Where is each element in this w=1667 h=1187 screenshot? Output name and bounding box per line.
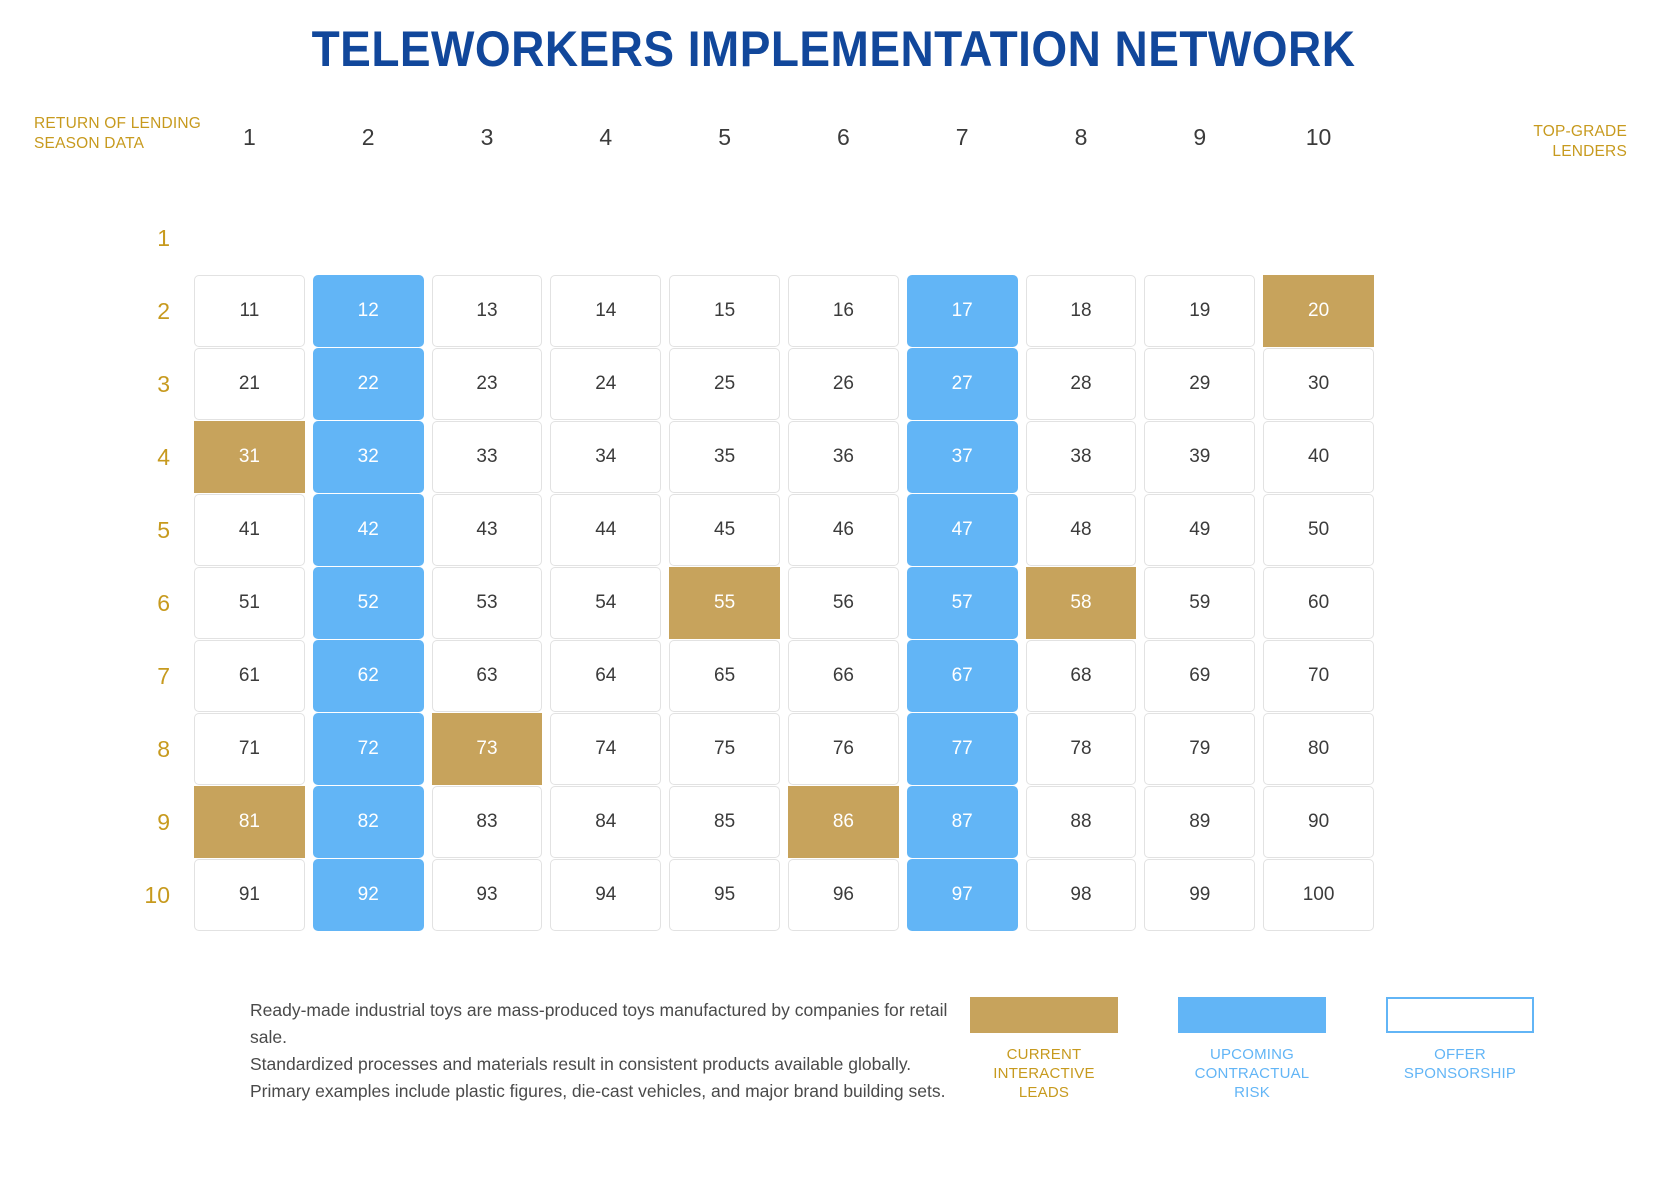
heatmap-cell-plain[interactable]: 89 <box>1144 786 1255 858</box>
heatmap-cell-plain[interactable]: 39 <box>1144 421 1255 493</box>
legend-item: CURRENTINTERACTIVE LEADS <box>970 997 1118 1102</box>
heatmap-row: 981828384858687888990 <box>190 786 1378 858</box>
heatmap-cell-plain[interactable]: 15 <box>669 275 780 347</box>
legend-label-line1: UPCOMING <box>1178 1045 1326 1064</box>
legend-swatch-outline <box>1386 997 1534 1033</box>
heatmap-cell-plain[interactable]: 59 <box>1144 567 1255 639</box>
legend-swatch-blue <box>1178 997 1326 1033</box>
heatmap-cell-plain[interactable]: 88 <box>1026 786 1137 858</box>
heatmap-cell-plain[interactable]: 61 <box>194 640 305 712</box>
heatmap-cell-plain[interactable]: 84 <box>550 786 661 858</box>
heatmap-cell-blue[interactable]: 62 <box>313 640 424 712</box>
heatmap-cell-blue[interactable]: 12 <box>313 275 424 347</box>
heatmap-cell-plain[interactable]: 53 <box>432 567 543 639</box>
row-header: 5 <box>130 494 170 566</box>
heatmap-row: 871727374757677787980 <box>190 713 1378 785</box>
column-header: 3 <box>428 124 547 151</box>
row-header: 7 <box>130 640 170 712</box>
heatmap-cell-plain[interactable]: 80 <box>1263 713 1374 785</box>
heatmap-cell-plain[interactable]: 66 <box>788 640 899 712</box>
column-header: 10 <box>1259 124 1378 151</box>
heatmap-cell-plain[interactable]: 100 <box>1263 859 1374 931</box>
heatmap-cell-blue[interactable]: 82 <box>313 786 424 858</box>
heatmap-cell-plain[interactable]: 19 <box>1144 275 1255 347</box>
heatmap-cell-plain[interactable]: 36 <box>788 421 899 493</box>
heatmap-cell-plain[interactable]: 25 <box>669 348 780 420</box>
heatmap-cell-plain[interactable]: 96 <box>788 859 899 931</box>
column-header: 1 <box>190 124 309 151</box>
description-line-1: Ready-made industrial toys are mass-prod… <box>250 997 950 1051</box>
heatmap-cell-blue[interactable]: 22 <box>313 348 424 420</box>
heatmap-cell-plain[interactable]: 44 <box>550 494 661 566</box>
heatmap-cell-blue[interactable]: 27 <box>907 348 1018 420</box>
heatmap-cell-blue[interactable]: 52 <box>313 567 424 639</box>
axis-label-columns: TOP-GRADE LENDERS <box>1437 122 1627 162</box>
heatmap-cell-gold[interactable]: 20 <box>1263 275 1374 347</box>
heatmap-cell-gold[interactable]: 31 <box>194 421 305 493</box>
row-header: 4 <box>130 421 170 493</box>
heatmap-row: 761626364656667686970 <box>190 640 1378 712</box>
heatmap-cell-plain[interactable]: 21 <box>194 348 305 420</box>
heatmap-cell-plain[interactable]: 83 <box>432 786 543 858</box>
legend-label: CURRENTINTERACTIVE LEADS <box>970 1045 1118 1102</box>
column-header: 5 <box>665 124 784 151</box>
heatmap-cell-blue[interactable]: 77 <box>907 713 1018 785</box>
axis-label-rows-line1: RETURN OF LENDING <box>34 114 214 134</box>
heatmap-cell-plain[interactable]: 63 <box>432 640 543 712</box>
heatmap-cell-plain[interactable]: 24 <box>550 348 661 420</box>
row-header: 9 <box>130 786 170 858</box>
heatmap-cell-gold[interactable]: 73 <box>432 713 543 785</box>
heatmap-cell-blue[interactable]: 57 <box>907 567 1018 639</box>
legend: CURRENTINTERACTIVE LEADSUPCOMINGCONTRACT… <box>970 997 1534 1102</box>
column-header-list: 12345678910 <box>190 124 1378 151</box>
heatmap-cell-plain[interactable]: 50 <box>1263 494 1374 566</box>
heatmap-cell-gold[interactable]: 55 <box>669 567 780 639</box>
heatmap-cell-gold[interactable]: 58 <box>1026 567 1137 639</box>
column-header: 2 <box>309 124 428 151</box>
legend-label: OFFERSPONSORSHIP <box>1386 1045 1534 1083</box>
legend-label-line2: INTERACTIVE LEADS <box>970 1064 1118 1102</box>
heatmap-cell-plain[interactable]: 49 <box>1144 494 1255 566</box>
legend-label-line1: CURRENT <box>970 1045 1118 1064</box>
heatmap-row: 431323334353637383940 <box>190 421 1378 493</box>
heatmap-cell-plain[interactable]: 41 <box>194 494 305 566</box>
column-header: 6 <box>784 124 903 151</box>
row-header: 3 <box>130 348 170 420</box>
heatmap-row: 1 <box>190 202 1378 274</box>
heatmap-cell-plain[interactable]: 46 <box>788 494 899 566</box>
heatmap-cell-plain[interactable]: 43 <box>432 494 543 566</box>
description-text: Ready-made industrial toys are mass-prod… <box>250 997 950 1105</box>
heatmap-cell-plain[interactable]: 18 <box>1026 275 1137 347</box>
heatmap-row: 321222324252627282930 <box>190 348 1378 420</box>
column-header: 7 <box>903 124 1022 151</box>
legend-label-line1: OFFER <box>1386 1045 1534 1064</box>
heatmap-cell-plain[interactable]: 40 <box>1263 421 1374 493</box>
heatmap-cell-plain[interactable]: 94 <box>550 859 661 931</box>
row-header: 1 <box>130 202 170 274</box>
heatmap-row: 10919293949596979899100 <box>190 859 1378 931</box>
heatmap-cell-plain[interactable]: 76 <box>788 713 899 785</box>
heatmap-cell-blue[interactable]: 47 <box>907 494 1018 566</box>
heatmap-cell-plain[interactable]: 68 <box>1026 640 1137 712</box>
heatmap-cell-plain[interactable]: 23 <box>432 348 543 420</box>
column-header: 4 <box>546 124 665 151</box>
heatmap-cell-blue[interactable]: 92 <box>313 859 424 931</box>
heatmap-cell-plain[interactable]: 48 <box>1026 494 1137 566</box>
heatmap-cell-plain[interactable]: 35 <box>669 421 780 493</box>
heatmap-cell-plain[interactable]: 90 <box>1263 786 1374 858</box>
heatmap-cell-plain[interactable]: 78 <box>1026 713 1137 785</box>
axis-label-rows: RETURN OF LENDING SEASON DATA <box>34 114 214 154</box>
heatmap-cell-plain[interactable]: 91 <box>194 859 305 931</box>
legend-label-line2: SPONSORSHIP <box>1386 1064 1534 1083</box>
heatmap-row: 211121314151617181920 <box>190 275 1378 347</box>
heatmap-cell-blue[interactable]: 67 <box>907 640 1018 712</box>
heatmap-grid: 1211121314151617181920321222324252627282… <box>0 202 1667 931</box>
heatmap-cell-plain[interactable]: 33 <box>432 421 543 493</box>
heatmap-cell-plain[interactable]: 45 <box>669 494 780 566</box>
description-line-3: Primary examples include plastic figures… <box>250 1078 950 1105</box>
heatmap-cell-plain[interactable]: 30 <box>1263 348 1374 420</box>
heatmap-cell-plain[interactable]: 11 <box>194 275 305 347</box>
heatmap-cell-plain[interactable]: 99 <box>1144 859 1255 931</box>
column-header: 9 <box>1140 124 1259 151</box>
heatmap-cell-plain[interactable]: 98 <box>1026 859 1137 931</box>
heatmap-cell-plain[interactable]: 16 <box>788 275 899 347</box>
legend-label: UPCOMINGCONTRACTUAL RISK <box>1178 1045 1326 1102</box>
heatmap-cell-gold[interactable]: 86 <box>788 786 899 858</box>
heatmap-cell-plain[interactable]: 64 <box>550 640 661 712</box>
heatmap-cell-plain[interactable]: 85 <box>669 786 780 858</box>
heatmap-cell-plain[interactable]: 75 <box>669 713 780 785</box>
row-header: 8 <box>130 713 170 785</box>
heatmap-cell-blue[interactable]: 37 <box>907 421 1018 493</box>
heatmap-cell-plain[interactable]: 70 <box>1263 640 1374 712</box>
heatmap-cell-plain[interactable]: 65 <box>669 640 780 712</box>
heatmap-cell-plain[interactable]: 28 <box>1026 348 1137 420</box>
heatmap-cell-plain[interactable]: 34 <box>550 421 661 493</box>
grid-header-row: RETURN OF LENDING SEASON DATA 1234567891… <box>0 104 1667 174</box>
axis-label-columns-line1: TOP-GRADE <box>1437 122 1627 142</box>
heatmap-cell-blue[interactable]: 42 <box>313 494 424 566</box>
heatmap-row: 541424344454647484950 <box>190 494 1378 566</box>
heatmap-cell-plain[interactable]: 26 <box>788 348 899 420</box>
heatmap-cell-blue[interactable]: 97 <box>907 859 1018 931</box>
heatmap-cell-plain[interactable]: 95 <box>669 859 780 931</box>
heatmap-cell-plain[interactable]: 14 <box>550 275 661 347</box>
heatmap-cell-plain[interactable]: 71 <box>194 713 305 785</box>
heatmap-cell-blue[interactable]: 32 <box>313 421 424 493</box>
row-header: 2 <box>130 275 170 347</box>
heatmap-cell-plain[interactable]: 74 <box>550 713 661 785</box>
legend-item: OFFERSPONSORSHIP <box>1386 997 1534 1102</box>
heatmap-cell-plain[interactable]: 93 <box>432 859 543 931</box>
legend-item: UPCOMINGCONTRACTUAL RISK <box>1178 997 1326 1102</box>
row-header: 10 <box>130 859 170 931</box>
heatmap-cell-blue[interactable]: 17 <box>907 275 1018 347</box>
heatmap-cell-plain[interactable]: 51 <box>194 567 305 639</box>
axis-label-columns-line2: LENDERS <box>1437 142 1627 162</box>
heatmap-cell-plain[interactable]: 79 <box>1144 713 1255 785</box>
heatmap-cell-plain[interactable]: 60 <box>1263 567 1374 639</box>
row-header: 6 <box>130 567 170 639</box>
heatmap-cell-plain[interactable]: 38 <box>1026 421 1137 493</box>
footer: Ready-made industrial toys are mass-prod… <box>0 997 1667 1105</box>
heatmap-cell-plain[interactable]: 54 <box>550 567 661 639</box>
heatmap-cell-plain[interactable]: 56 <box>788 567 899 639</box>
heatmap-cell-gold[interactable]: 81 <box>194 786 305 858</box>
axis-label-rows-line2: SEASON DATA <box>34 134 214 154</box>
page-title: TELEWORKERS IMPLEMENTATION NETWORK <box>67 0 1601 82</box>
heatmap-cell-plain[interactable]: 13 <box>432 275 543 347</box>
heatmap-cell-plain[interactable]: 29 <box>1144 348 1255 420</box>
heatmap-row: 651525354555657585960 <box>190 567 1378 639</box>
description-line-2: Standardized processes and materials res… <box>250 1051 950 1078</box>
column-header: 8 <box>1022 124 1141 151</box>
heatmap-cell-plain[interactable]: 69 <box>1144 640 1255 712</box>
legend-swatch-gold <box>970 997 1118 1033</box>
heatmap-cell-blue[interactable]: 87 <box>907 786 1018 858</box>
legend-label-line2: CONTRACTUAL RISK <box>1178 1064 1326 1102</box>
heatmap-cell-blue[interactable]: 72 <box>313 713 424 785</box>
